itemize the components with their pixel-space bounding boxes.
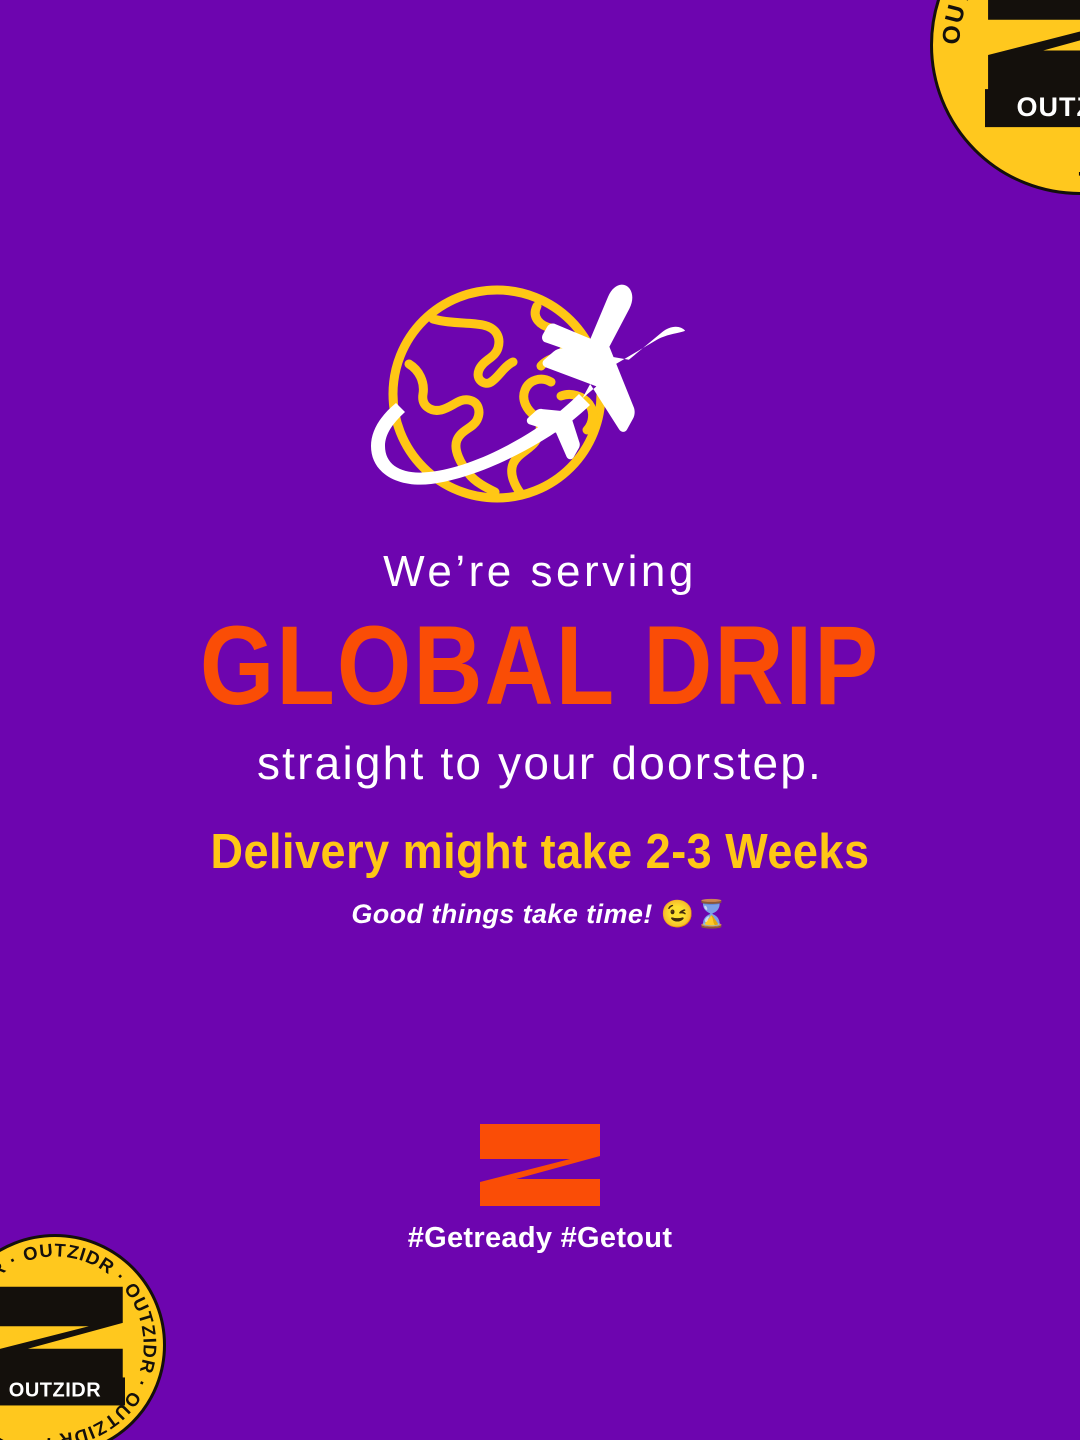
delivery-notice-block: Delivery might take 2-3 Weeks Good thing…: [0, 824, 1080, 930]
delivery-time-text: Delivery might take 2-3 Weeks: [0, 824, 1080, 878]
outzidr-badge-top-right: OUTZIDR · OUTZIDR · OUTZIDR · OUTZIDR · …: [930, 0, 1080, 195]
delivery-subtext: Good things take time! 😉⌛: [0, 898, 1080, 930]
outzidr-z-logo-icon: [478, 1122, 602, 1208]
headline-pre-line: We’re serving: [0, 548, 1080, 596]
footer-brand-lockup: #Getready #Getout: [0, 1122, 1080, 1255]
badge-core-top-right: OUTZIDR: [985, 0, 1080, 127]
badge-core-bottom-left: OUTZIDR: [0, 1284, 125, 1405]
outzidr-badge-bottom-left: OUTZIDR · OUTZIDR · OUTZIDR · OUTZIDR · …: [0, 1234, 166, 1440]
headline-block: We’re serving GLOBAL DRIP straight to yo…: [0, 548, 1080, 788]
badge-wordmark-top-right: OUTZIDR: [985, 89, 1080, 127]
badge-z-logo-top-right: [985, 0, 1080, 95]
badge-z-logo-bottom-left: [0, 1284, 125, 1381]
globe-icon: [393, 290, 601, 498]
badge-wordmark-bottom-left: OUTZIDR: [0, 1378, 125, 1406]
delivery-subtext-label: Good things take time!: [351, 899, 652, 929]
wink-hourglass-emoji: 😉⌛: [661, 899, 729, 929]
globe-airplane-illustration: [365, 278, 715, 510]
headline-main: GLOBAL DRIP: [0, 610, 1080, 722]
headline-post-line: straight to your doorstep.: [0, 738, 1080, 789]
footer-hashtags: #Getready #Getout: [408, 1222, 673, 1255]
promo-poster: We’re serving GLOBAL DRIP straight to yo…: [0, 0, 1080, 1440]
